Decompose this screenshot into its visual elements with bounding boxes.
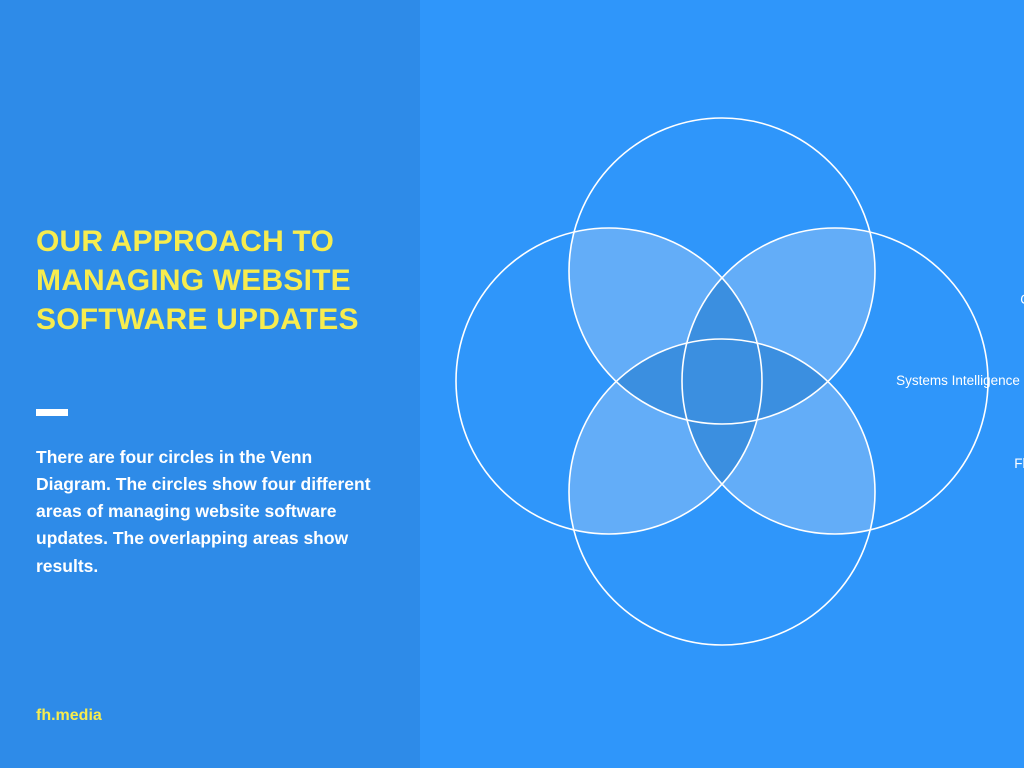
left-panel: Our approach to managing website softwar… xyxy=(0,0,420,768)
right-panel: Scheduled Updates Systems Intelligence T… xyxy=(420,0,1024,768)
venn-diagram xyxy=(420,0,1024,768)
title-divider xyxy=(36,409,68,416)
slide-root: Our approach to managing website softwar… xyxy=(0,0,1024,768)
brand-logo: fh.media xyxy=(36,707,102,725)
description-text: There are four circles in the Venn Diagr… xyxy=(36,444,376,580)
page-title: Our approach to managing website softwar… xyxy=(36,222,396,339)
